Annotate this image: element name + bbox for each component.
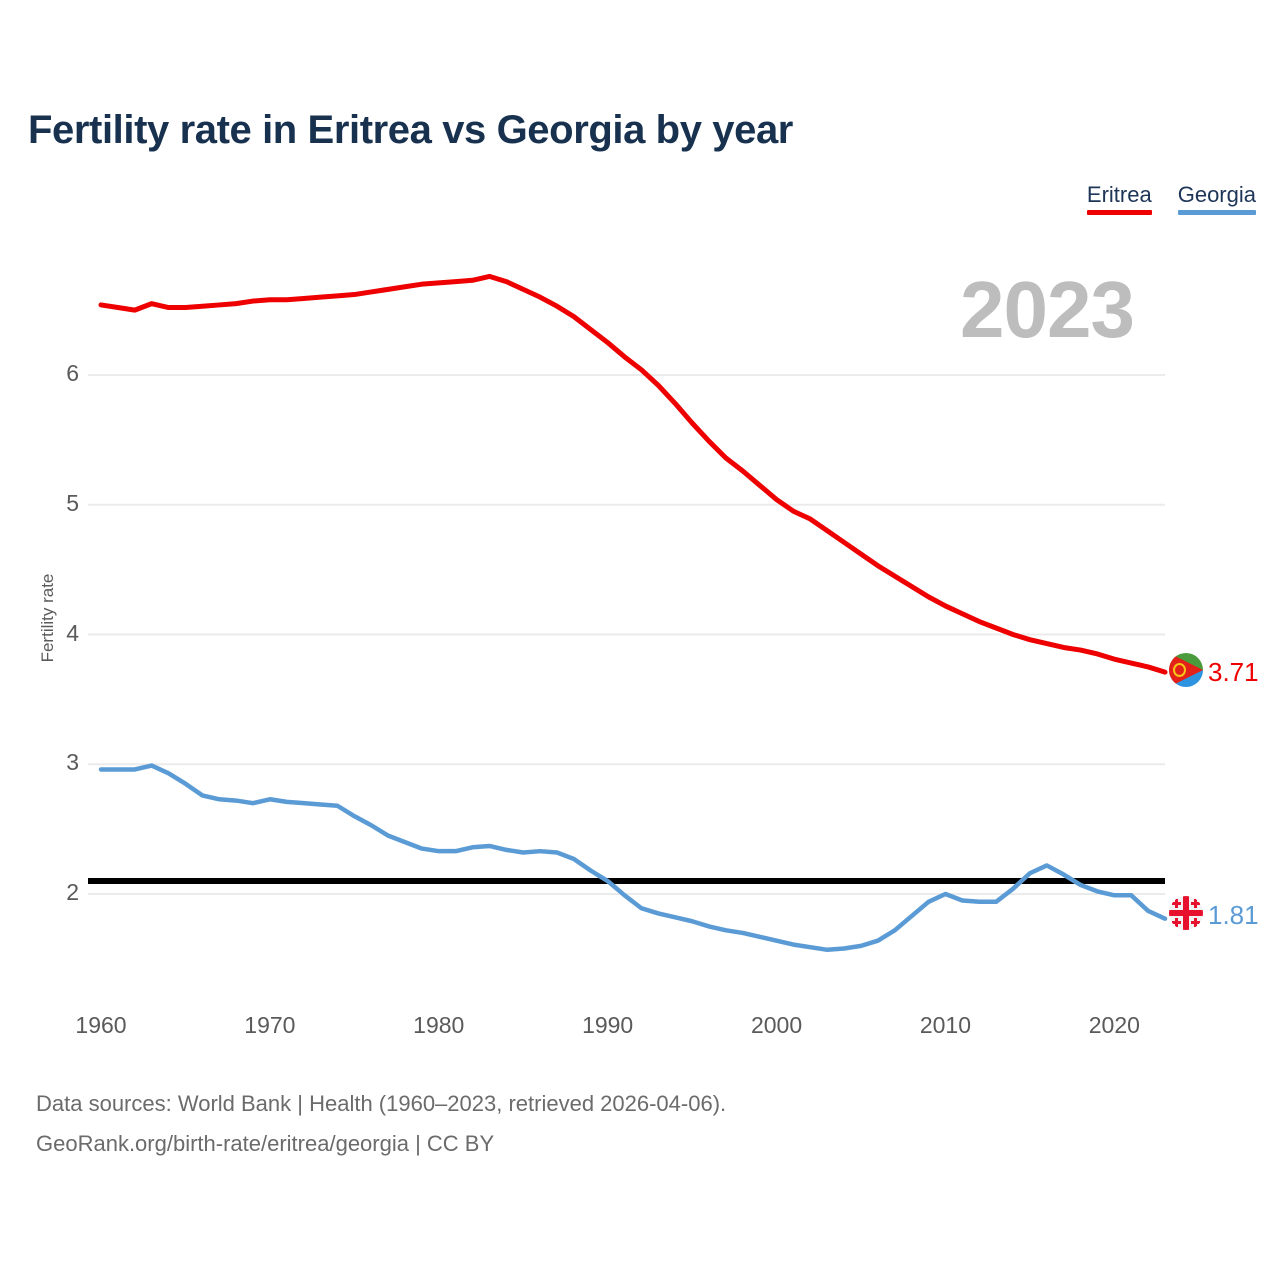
- end-value-georgia: 1.81: [1208, 900, 1259, 931]
- y-axis-title: Fertility rate: [38, 548, 58, 688]
- series-line-eritrea: [101, 276, 1165, 672]
- x-axis-tick-1960: 1960: [56, 1012, 146, 1039]
- footer-data-sources: Data sources: World Bank | Health (1960–…: [36, 1084, 726, 1124]
- y-axis-tick-6: 6: [39, 360, 79, 387]
- x-axis-tick-1980: 1980: [394, 1012, 484, 1039]
- georgia-flag-small-cross-tl: [1172, 899, 1181, 908]
- georgia-flag-horizontal-bar: [1169, 910, 1203, 916]
- x-axis-tick-2010: 2010: [900, 1012, 990, 1039]
- y-axis-tick-2: 2: [39, 879, 79, 906]
- y-axis-tick-3: 3: [39, 749, 79, 776]
- georgia-flag-small-cross-bl: [1172, 918, 1181, 927]
- y-axis-tick-4: 4: [39, 620, 79, 647]
- series-line-georgia: [101, 766, 1165, 950]
- x-axis-tick-2000: 2000: [732, 1012, 822, 1039]
- footer-attribution: GeoRank.org/birth-rate/eritrea/georgia |…: [36, 1124, 726, 1164]
- x-axis-tick-1990: 1990: [563, 1012, 653, 1039]
- georgia-flag-small-cross-br: [1191, 918, 1200, 927]
- y-axis-tick-5: 5: [39, 490, 79, 517]
- footer: Data sources: World Bank | Health (1960–…: [36, 1084, 726, 1164]
- georgia-flag-small-cross-tr: [1191, 899, 1200, 908]
- x-axis-tick-2020: 2020: [1069, 1012, 1159, 1039]
- eritrea-flag-wreath: [1173, 663, 1186, 677]
- end-value-eritrea: 3.71: [1208, 657, 1259, 688]
- gridlines: [88, 375, 1165, 894]
- x-axis-tick-1970: 1970: [225, 1012, 315, 1039]
- eritrea-flag-icon: [1169, 653, 1203, 687]
- georgia-flag-icon: [1169, 896, 1203, 930]
- chart-page: Fertility rate in Eritrea vs Georgia by …: [0, 0, 1280, 1280]
